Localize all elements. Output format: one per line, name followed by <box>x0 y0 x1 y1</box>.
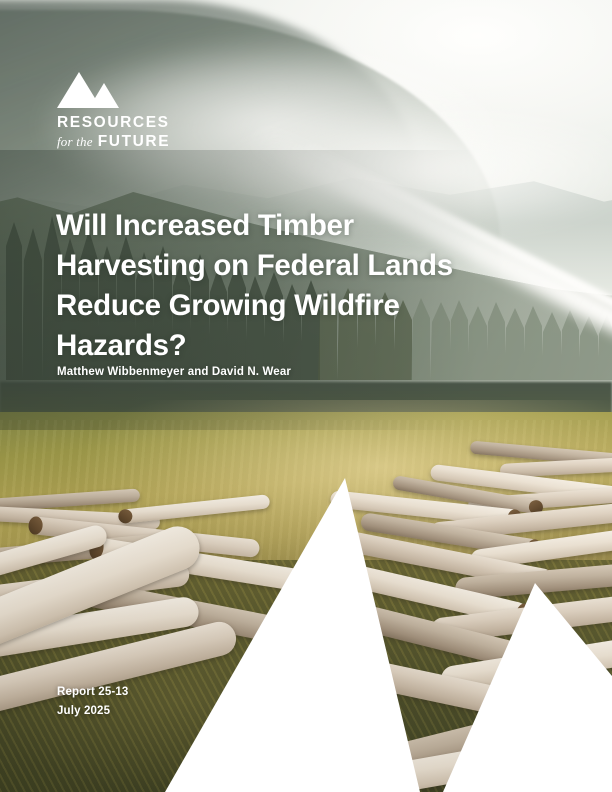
authors: Matthew Wibbenmeyer and David N. Wear <box>57 366 291 378</box>
cover-content: RESOURCES for the FUTURE Will Increased … <box>0 0 612 792</box>
title-line: Hazards? <box>56 329 186 362</box>
rff-mountain-logo-icon <box>57 72 119 108</box>
title-line: Reduce Growing Wildfire <box>56 289 400 322</box>
title-line: Will Increased Timber <box>56 209 354 242</box>
report-meta: Report 25-13 July 2025 <box>57 683 128 721</box>
logo-resources-text: RESOURCES <box>57 115 237 131</box>
logo-future-text: FUTURE <box>98 134 170 150</box>
report-cover: RESOURCES for the FUTURE Will Increased … <box>0 0 612 792</box>
page-title: Will Increased Timber Harvesting on Fede… <box>56 206 526 366</box>
title-line: Harvesting on Federal Lands <box>56 249 453 282</box>
publisher-wordmark: RESOURCES for the FUTURE <box>57 115 237 149</box>
publisher-logo[interactable]: RESOURCES for the FUTURE <box>57 72 237 149</box>
report-number: Report 25-13 <box>57 683 128 702</box>
logo-forthe-text: for the <box>57 135 93 148</box>
report-date: July 2025 <box>57 702 128 721</box>
